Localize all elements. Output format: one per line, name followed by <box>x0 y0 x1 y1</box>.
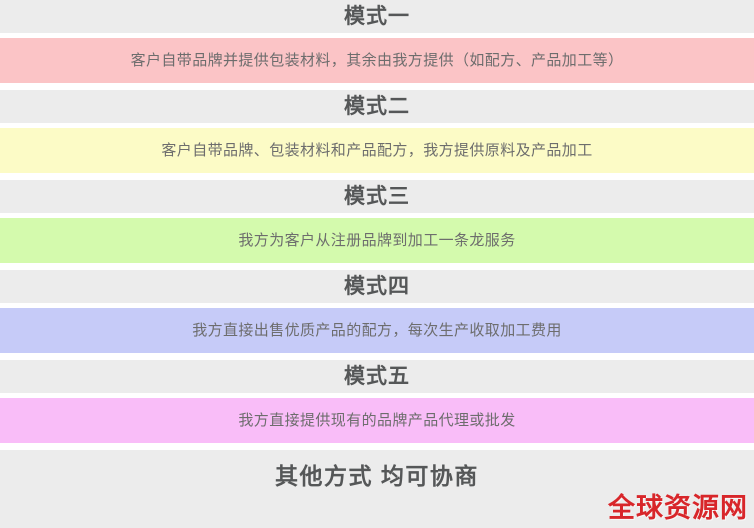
mode-body-2: 客户自带品牌、包装材料和产品配方，我方提供原料及产品加工 <box>0 128 754 173</box>
cooperation-modes-page: 模式一 客户自带品牌并提供包装材料，其余由我方提供（如配方、产品加工等） 模式二… <box>0 0 754 528</box>
footer-band: 其他方式 均可协商 全球资源网 <box>0 450 754 528</box>
mode-title-2: 模式二 <box>344 96 410 117</box>
mode-title-5: 模式五 <box>344 366 410 387</box>
site-watermark: 全球资源网 <box>608 495 748 522</box>
separator-8 <box>0 353 754 360</box>
separator-6 <box>0 263 754 270</box>
mode-body-5: 我方直接提供现有的品牌产品代理或批发 <box>0 398 754 443</box>
mode-title-4: 模式四 <box>344 276 410 297</box>
mode-header-4: 模式四 <box>0 270 754 303</box>
mode-header-3: 模式三 <box>0 180 754 213</box>
mode-header-1: 模式一 <box>0 0 754 33</box>
mode-description-2: 客户自带品牌、包装材料和产品配方，我方提供原料及产品加工 <box>161 142 592 160</box>
mode-body-1: 客户自带品牌并提供包装材料，其余由我方提供（如配方、产品加工等） <box>0 38 754 83</box>
mode-body-3: 我方为客户从注册品牌到加工一条龙服务 <box>0 218 754 263</box>
mode-description-1: 客户自带品牌并提供包装材料，其余由我方提供（如配方、产品加工等） <box>131 52 624 70</box>
separator-2 <box>0 83 754 90</box>
separator-4 <box>0 173 754 180</box>
separator-10 <box>0 443 754 450</box>
mode-description-5: 我方直接提供现有的品牌产品代理或批发 <box>238 412 515 430</box>
mode-description-3: 我方为客户从注册品牌到加工一条龙服务 <box>238 232 515 250</box>
mode-description-4: 我方直接出售优质产品的配方，每次生产收取加工费用 <box>192 322 562 340</box>
mode-header-2: 模式二 <box>0 90 754 123</box>
mode-body-4: 我方直接出售优质产品的配方，每次生产收取加工费用 <box>0 308 754 353</box>
mode-title-3: 模式三 <box>344 186 410 207</box>
mode-header-5: 模式五 <box>0 360 754 393</box>
mode-title-1: 模式一 <box>344 6 410 27</box>
footer-title: 其他方式 均可协商 <box>0 465 754 488</box>
